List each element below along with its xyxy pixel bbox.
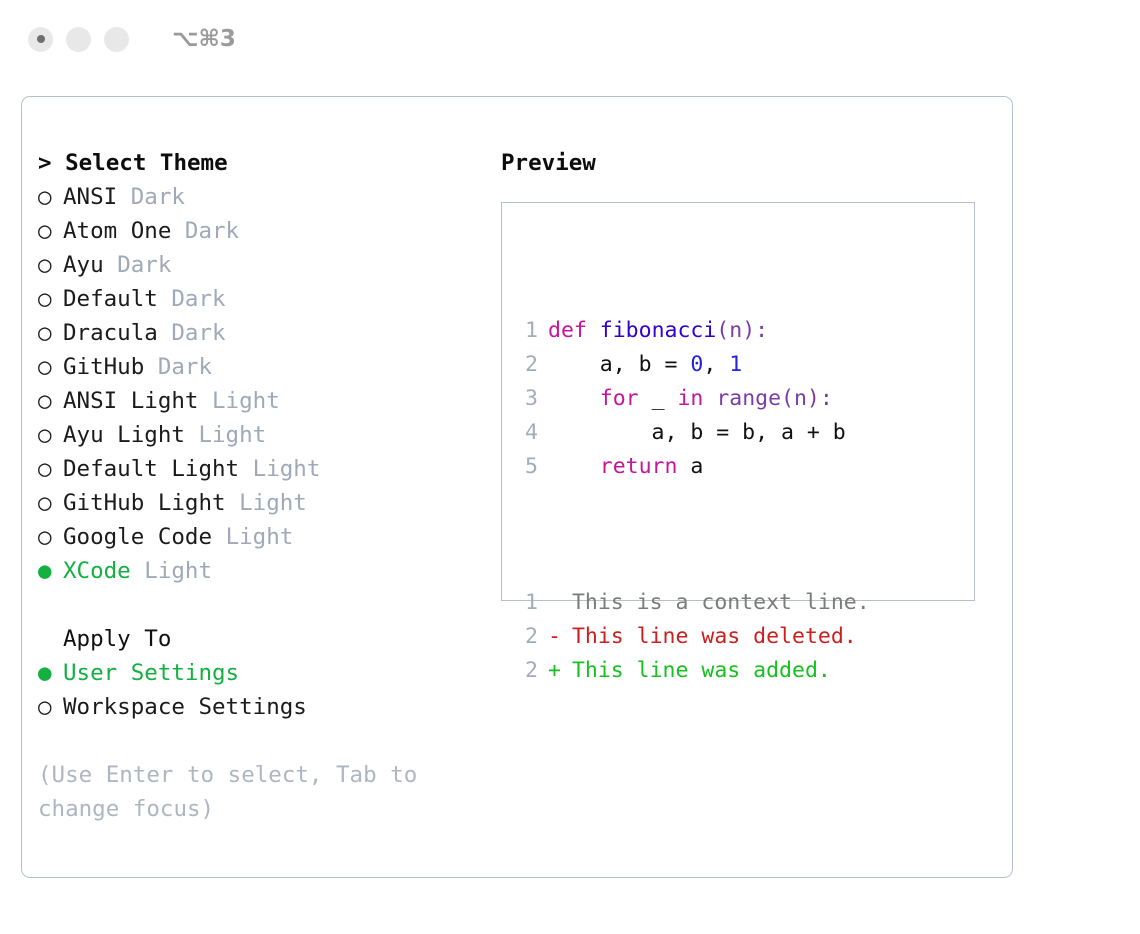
close-icon[interactable] [28, 27, 53, 52]
apply-to-option-label: User Settings [63, 656, 239, 690]
radio-unselected-icon: ○ [38, 690, 63, 724]
apply-to-option-label: Workspace Settings [63, 690, 307, 724]
hint-spacer [38, 724, 483, 758]
space [158, 316, 172, 350]
line-number: 4 [514, 416, 538, 450]
radio-unselected-icon: ○ [38, 384, 63, 418]
theme-option-kind: Light [198, 418, 266, 452]
diff-sign: + [548, 654, 559, 688]
theme-option-kind: Dark [171, 282, 225, 316]
space [212, 520, 226, 554]
minimize-icon[interactable] [66, 27, 91, 52]
diff-text: This is a context line. [559, 590, 870, 615]
space [131, 554, 145, 588]
code-line: 2 a, b = 0, 1 [514, 348, 870, 382]
theme-option-name: GitHub Light [63, 486, 226, 520]
apply-to-option-user-settings[interactable]: ●User Settings [38, 656, 483, 690]
card-columns: > Select Theme ○ANSI Dark○Atom One Dark○… [22, 97, 1012, 877]
line-number: 1 [514, 314, 538, 348]
line-number: 2 [514, 620, 538, 654]
code-token [548, 386, 600, 411]
space [171, 214, 185, 248]
theme-option-default-light[interactable]: ○Default Light Light [38, 452, 483, 486]
code-token [548, 454, 600, 479]
code-line: 3 for _ in range(n): [514, 382, 870, 416]
theme-option-kind: Dark [131, 180, 185, 214]
theme-option-kind: Dark [117, 248, 171, 282]
theme-option-name: Dracula [63, 316, 158, 350]
space [144, 350, 158, 384]
heading-prefix: > [38, 150, 65, 176]
theme-option-kind: Light [226, 520, 294, 554]
diff-sign: - [548, 620, 559, 654]
space [198, 384, 212, 418]
line-number: 1 [514, 586, 538, 620]
space [185, 418, 199, 452]
maximize-icon[interactable] [104, 27, 129, 52]
code-token: in [677, 386, 703, 411]
diff-line-add: 2+ This line was added. [514, 654, 870, 688]
diff-line-ctx: 1 This is a context line. [514, 586, 870, 620]
code-line: 1def fibonacci(n): [514, 314, 870, 348]
theme-option-name: Default [63, 282, 158, 316]
list-spacer [38, 588, 483, 622]
theme-option-dracula[interactable]: ○Dracula Dark [38, 316, 483, 350]
theme-selector-panel: > Select Theme ○ANSI Dark○Atom One Dark○… [38, 146, 483, 826]
space [104, 248, 118, 282]
code-token [587, 318, 600, 343]
radio-unselected-icon: ○ [38, 316, 63, 350]
title-bar: ⌥⌘3 [0, 0, 1140, 78]
diff-sign [548, 586, 559, 620]
code-line: 4 a, b = b, a + b [514, 416, 870, 450]
radio-unselected-icon: ○ [38, 350, 63, 384]
code-sample: 1def fibonacci(n):2 a, b = 0, 13 for _ i… [514, 246, 870, 756]
diff-lines: 1 This is a context line.2- This line wa… [514, 586, 870, 688]
code-token: (n): [781, 386, 833, 411]
theme-option-ayu-light[interactable]: ○Ayu Light Light [38, 418, 483, 452]
hint-line-1: (Use Enter to select, Tab to [38, 758, 483, 792]
code-token: , [703, 352, 729, 377]
select-theme-heading: > Select Theme [38, 146, 483, 180]
apply-to-heading: Apply To [38, 622, 483, 656]
space [239, 452, 253, 486]
line-number: 3 [514, 382, 538, 416]
code-token: 1 [729, 352, 742, 377]
theme-option-ayu[interactable]: ○Ayu Dark [38, 248, 483, 282]
line-number: 5 [514, 450, 538, 484]
theme-option-kind: Dark [171, 316, 225, 350]
theme-option-default[interactable]: ○Default Dark [38, 282, 483, 316]
preview-heading: Preview [501, 146, 981, 180]
radio-unselected-icon: ○ [38, 520, 63, 554]
diff-line-del: 2- This line was deleted. [514, 620, 870, 654]
theme-list: ○ANSI Dark○Atom One Dark○Ayu Dark○Defaul… [38, 180, 483, 588]
theme-option-name: Atom One [63, 214, 171, 248]
radio-unselected-icon: ○ [38, 180, 63, 214]
diff-text: This line was added. [559, 658, 831, 683]
traffic-light-buttons [28, 27, 129, 52]
line-number: 2 [514, 654, 538, 688]
active-dot-icon [37, 35, 45, 43]
code-token: a, b = [548, 352, 690, 377]
radio-unselected-icon: ○ [38, 452, 63, 486]
preview-panel: Preview 1def fibonacci(n):2 a, b = 0, 13… [501, 146, 981, 601]
code-token [703, 386, 716, 411]
theme-option-kind: Light [144, 554, 212, 588]
code-token: ): [742, 318, 768, 343]
diff-text: This line was deleted. [559, 624, 857, 649]
code-token: a [677, 454, 703, 479]
space [226, 486, 240, 520]
keyboard-shortcut-label: ⌥⌘3 [172, 26, 236, 52]
theme-option-name: XCode [63, 554, 131, 588]
theme-option-google-code[interactable]: ○Google Code Light [38, 520, 483, 554]
theme-option-kind: Light [253, 452, 321, 486]
heading-text: Select Theme [65, 150, 228, 176]
theme-option-xcode[interactable]: ●XCode Light [38, 554, 483, 588]
radio-unselected-icon: ○ [38, 248, 63, 282]
radio-unselected-icon: ○ [38, 282, 63, 316]
theme-option-kind: Light [239, 486, 307, 520]
code-token: a, b = b, a + b [548, 420, 846, 445]
apply-to-option-workspace-settings[interactable]: ○Workspace Settings [38, 690, 483, 724]
app-window: ⌥⌘3 > Select Theme ○ANSI Dark○Atom One D… [0, 0, 1140, 934]
theme-option-name: Ayu Light [63, 418, 185, 452]
code-lines: 1def fibonacci(n):2 a, b = 0, 13 for _ i… [514, 314, 870, 484]
hint-line-2: change focus) [38, 792, 483, 826]
radio-selected-icon: ● [38, 656, 63, 690]
radio-selected-icon: ● [38, 554, 63, 588]
main-card: > Select Theme ○ANSI Dark○Atom One Dark○… [21, 96, 1013, 878]
theme-option-name: GitHub [63, 350, 144, 384]
line-number: 2 [514, 348, 538, 382]
theme-option-name: Ayu [63, 248, 104, 282]
theme-option-name: ANSI Light [63, 384, 198, 418]
apply-to-list: ●User Settings○Workspace Settings [38, 656, 483, 724]
code-token: range [716, 386, 781, 411]
code-line: 5 return a [514, 450, 870, 484]
theme-option-kind: Light [212, 384, 280, 418]
radio-unselected-icon: ○ [38, 214, 63, 248]
radio-unselected-icon: ○ [38, 486, 63, 520]
code-token: n [729, 318, 742, 343]
radio-unselected-icon: ○ [38, 418, 63, 452]
code-token: return [600, 454, 678, 479]
theme-option-kind: Dark [158, 350, 212, 384]
theme-option-ansi[interactable]: ○ANSI Dark [38, 180, 483, 214]
theme-option-ansi-light[interactable]: ○ANSI Light Light [38, 384, 483, 418]
space [158, 282, 172, 316]
space [117, 180, 131, 214]
code-token: _ [639, 386, 678, 411]
code-token: for [600, 386, 639, 411]
code-token: ( [716, 318, 729, 343]
code-token: 0 [690, 352, 703, 377]
preview-box: 1def fibonacci(n):2 a, b = 0, 13 for _ i… [501, 202, 975, 601]
theme-option-github-light[interactable]: ○GitHub Light Light [38, 486, 483, 520]
code-token: fibonacci [600, 318, 717, 343]
theme-option-name: Default Light [63, 452, 239, 486]
theme-option-kind: Dark [185, 214, 239, 248]
theme-option-name: Google Code [63, 520, 212, 554]
theme-option-name: ANSI [63, 180, 117, 214]
theme-option-github[interactable]: ○GitHub Dark [38, 350, 483, 384]
theme-option-atom-one[interactable]: ○Atom One Dark [38, 214, 483, 248]
code-token: def [548, 318, 587, 343]
